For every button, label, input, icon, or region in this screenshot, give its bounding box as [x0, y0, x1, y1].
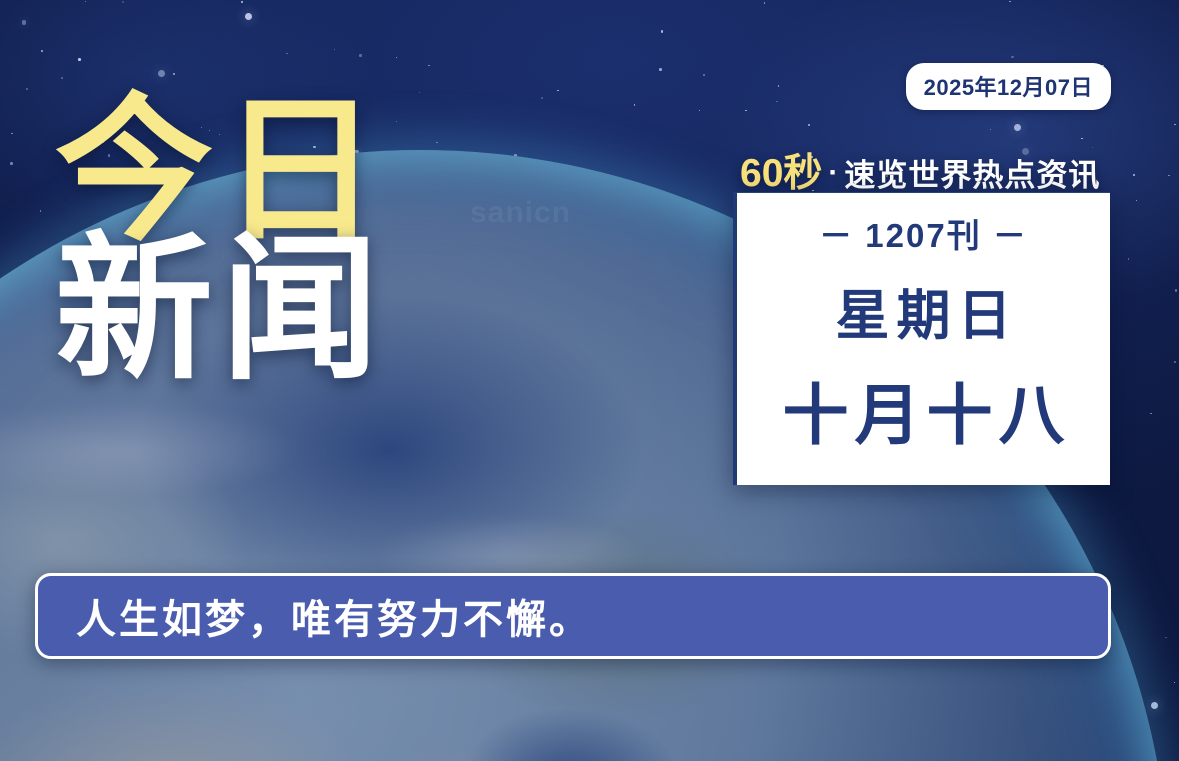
date-info-card: － 1207刊 － 星期日 十月十八	[733, 192, 1110, 485]
date-badge: 2025年12月07日	[906, 63, 1111, 110]
weekday-label: 星期日	[829, 271, 1019, 350]
tagline: 60秒·速览世界热点资讯	[740, 142, 1100, 198]
tagline-description: 速览世界热点资讯	[844, 158, 1100, 193]
issue-number: － 1207刊 －	[819, 209, 1028, 257]
quote-banner: 人生如梦，唯有努力不懈。	[35, 573, 1111, 659]
tagline-duration: 60秒	[740, 152, 822, 195]
news-poster: sanicn 今日 新闻 2025年12月07日 60秒·速览世界热点资讯 － …	[0, 0, 1179, 761]
headline-block: 今日 新闻	[55, 95, 387, 388]
headline-line-news: 新闻	[55, 234, 387, 387]
quote-text: 人生如梦，唯有努力不懈。	[38, 587, 592, 645]
watermark-text: sanicn	[470, 196, 571, 230]
tagline-separator: ·	[822, 156, 844, 189]
lunar-date-label: 十月十八	[777, 362, 1071, 458]
